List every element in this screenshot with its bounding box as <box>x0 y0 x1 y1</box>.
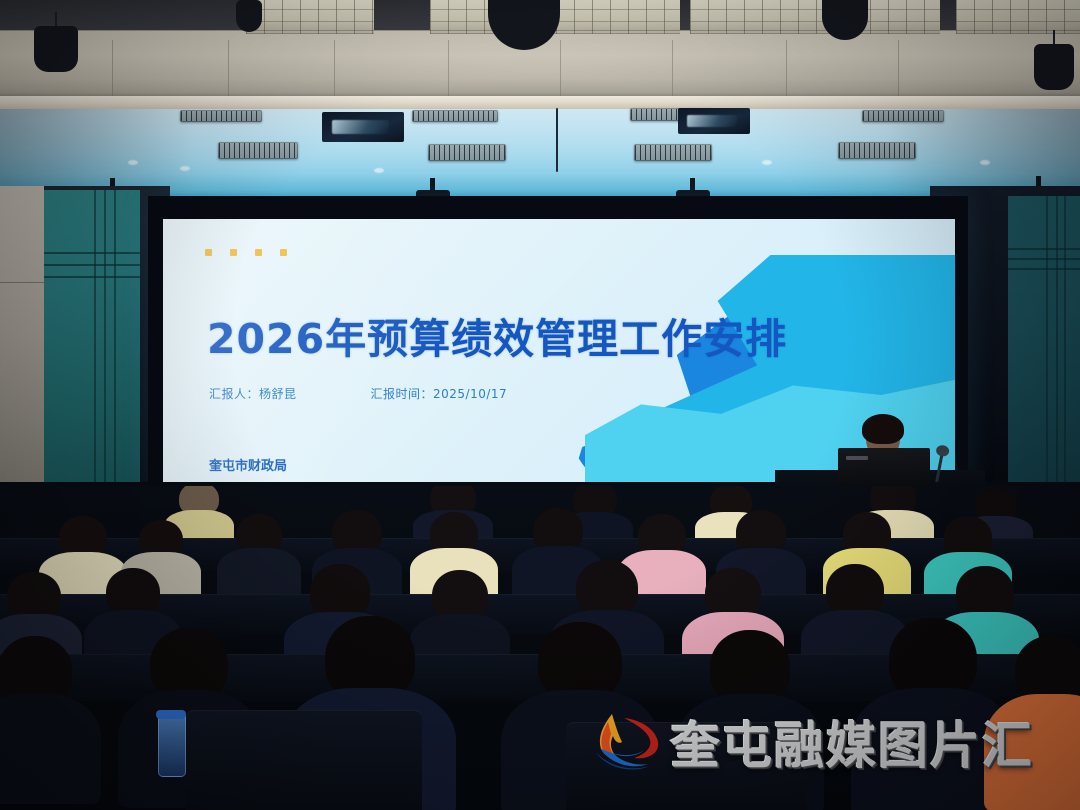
hanging-cable <box>556 108 558 172</box>
ceiling-dark-panel <box>322 112 404 142</box>
watermark-text: 奎屯融媒图片汇 <box>670 706 1034 778</box>
air-vent <box>862 110 944 122</box>
slide-meta-row: 汇报人：杨舒昆 汇报时间：2025/10/17 <box>209 385 507 402</box>
air-vent <box>218 142 298 159</box>
audience-person <box>0 636 90 796</box>
decor-dot-icon <box>280 249 287 256</box>
laptop-icon <box>838 448 930 486</box>
decor-dot-icon <box>255 249 262 256</box>
air-vent <box>180 110 262 122</box>
wall-seam <box>448 40 449 96</box>
slide-date-label: 汇报时间：2025/10/17 <box>371 385 508 402</box>
wall-seam <box>672 40 673 96</box>
water-cup <box>158 713 186 777</box>
hanging-speaker-icon <box>1034 44 1074 90</box>
slide-decor-dots <box>205 249 287 256</box>
wall-seam <box>228 40 229 96</box>
wall-seam <box>334 40 335 96</box>
audience-person <box>224 514 294 596</box>
air-vent <box>634 144 712 161</box>
right-teal-wall-panel <box>1008 196 1080 502</box>
seat-back <box>186 710 422 810</box>
ceiling-downlight <box>180 166 190 171</box>
flame-swirl-logo-icon <box>566 708 670 774</box>
skylight-grid <box>956 0 1080 34</box>
wall-seam <box>898 40 899 96</box>
left-teal-wall-panel <box>44 190 140 508</box>
left-gray-column <box>0 186 44 510</box>
soffit-lip <box>0 96 1080 109</box>
skylight-grid <box>690 0 940 34</box>
ceiling-downlight <box>128 160 138 165</box>
ceiling-downlight <box>762 160 772 165</box>
skylight-grid <box>246 0 374 34</box>
watermark: 奎屯融媒图片汇 <box>566 700 1006 778</box>
wall-seam <box>786 40 787 96</box>
presentation-screen: 2026年预算绩效管理工作安排 汇报人：杨舒昆 汇报时间：2025/10/17 … <box>163 219 955 482</box>
decor-dot-icon <box>230 249 237 256</box>
hanging-speaker-icon <box>34 26 78 72</box>
air-vent <box>428 144 506 161</box>
ceiling-downlight <box>374 168 384 173</box>
wall-seam <box>112 40 113 96</box>
air-vent <box>838 142 916 159</box>
air-vent <box>412 110 498 122</box>
slide-organization: 奎屯市财政局 <box>209 455 287 474</box>
wall-seam <box>560 40 561 96</box>
hanging-speaker-icon <box>236 0 262 32</box>
ceiling-dark-panel <box>678 108 750 134</box>
slide-presenter-label: 汇报人：杨舒昆 <box>209 385 297 402</box>
decor-dot-icon <box>205 249 212 256</box>
slide-title: 2026年预算绩效管理工作安排 <box>207 305 787 365</box>
ceiling-downlight <box>980 160 990 165</box>
conference-hall-photo: 2026年预算绩效管理工作安排 汇报人：杨舒昆 汇报时间：2025/10/17 … <box>0 0 1080 810</box>
